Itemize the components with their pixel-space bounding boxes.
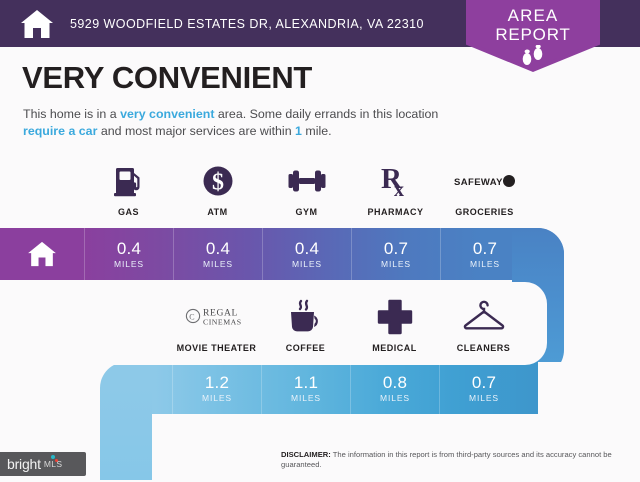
home-icon — [18, 5, 56, 43]
disclaimer-label: DISCLAIMER: — [281, 450, 331, 459]
distance-value: 0.4 — [295, 240, 319, 258]
amenity-gas[interactable]: GAS — [84, 160, 173, 217]
logo-dot-red — [55, 459, 58, 462]
ribbon-left-connector — [100, 388, 152, 480]
distance-unit: MILES — [202, 393, 232, 403]
distance-values-top: 0.4 MILES 0.4 MILES 0.4 MILES 0.7 MILES … — [84, 228, 529, 280]
gas-pump-icon — [111, 160, 147, 202]
distance-unit: MILES — [469, 393, 499, 403]
amenities-row-bottom: C REGAL CINEMAS MOVIE THEATER COFFEE MED… — [172, 296, 528, 353]
distance-cell: 0.7 MILES — [440, 228, 529, 280]
distance-cell: 0.4 MILES — [84, 228, 173, 280]
distance-value: 1.2 — [205, 374, 229, 392]
svg-text:$: $ — [212, 170, 224, 196]
svg-text:C: C — [189, 313, 194, 322]
amenity-movie-theater[interactable]: C REGAL CINEMAS MOVIE THEATER — [172, 296, 261, 353]
desc-highlight-3: 1 — [295, 124, 302, 138]
disclaimer: DISCLAIMER: The information in this repo… — [281, 450, 626, 470]
clothes-hanger-icon — [462, 296, 506, 338]
footprints-icon — [516, 45, 550, 65]
amenity-label: GAS — [118, 207, 139, 217]
distance-value: 0.7 — [384, 240, 408, 258]
distance-value: 0.4 — [117, 240, 141, 258]
distance-cell: 0.7 MILES — [439, 362, 528, 414]
desc-part-1: This home is in a — [23, 107, 120, 121]
amenity-groceries[interactable]: SAFEWAY GROCERIES — [440, 160, 529, 217]
amenity-label: MEDICAL — [372, 343, 417, 353]
rx-icon: R x — [378, 160, 414, 202]
distance-unit: MILES — [380, 393, 410, 403]
desc-highlight-2: require a car — [23, 124, 97, 138]
desc-part-3: and most major services are within — [97, 124, 295, 138]
svg-text:SAFEWAY: SAFEWAY — [454, 177, 503, 188]
distance-value: 0.7 — [472, 374, 496, 392]
desc-highlight-1: very convenient — [120, 107, 214, 121]
distance-cell: 0.8 MILES — [350, 362, 439, 414]
amenity-label: MOVIE THEATER — [177, 343, 257, 353]
amenity-medical[interactable]: MEDICAL — [350, 296, 439, 353]
distance-value: 0.4 — [206, 240, 230, 258]
amenity-pharmacy[interactable]: R x PHARMACY — [351, 160, 440, 217]
dollar-circle-icon: $ — [200, 160, 236, 202]
amenity-cleaners[interactable]: CLEANERS — [439, 296, 528, 353]
home-icon-cell — [0, 228, 84, 280]
area-report-badge: AREA REPORT — [470, 0, 596, 68]
distance-cell: 0.7 MILES — [351, 228, 440, 280]
amenity-gym[interactable]: GYM — [262, 160, 351, 217]
middle-white-card-left — [0, 282, 120, 365]
safeway-logo: SAFEWAY — [454, 160, 516, 202]
distance-unit: MILES — [291, 393, 321, 403]
desc-part-4: mile. — [302, 124, 332, 138]
svg-text:CINEMAS: CINEMAS — [203, 318, 242, 327]
distance-unit: MILES — [470, 259, 500, 269]
amenity-coffee[interactable]: COFFEE — [261, 296, 350, 353]
coffee-cup-icon — [286, 296, 326, 338]
distance-cell: 1.2 MILES — [172, 362, 261, 414]
amenity-label: CLEANERS — [457, 343, 511, 353]
distance-cell: 0.4 MILES — [262, 228, 351, 280]
amenities-row-top: GAS $ ATM GYM R x — [84, 160, 529, 217]
distance-value: 0.7 — [473, 240, 497, 258]
distance-unit: MILES — [381, 259, 411, 269]
description-text: This home is in a very convenient area. … — [23, 106, 453, 140]
disclaimer-text: The information in this report is from t… — [281, 450, 612, 469]
bright-mls-wordmark: bright — [7, 456, 41, 472]
bright-mls-logo[interactable]: bright MLS — [0, 452, 86, 476]
amenity-label: PHARMACY — [367, 207, 423, 217]
dumbbell-icon — [287, 160, 327, 202]
regal-cinemas-logo: C REGAL CINEMAS — [184, 296, 250, 338]
distance-cell: 0.4 MILES — [173, 228, 262, 280]
badge-line-2: REPORT — [495, 25, 570, 44]
amenity-label: ATM — [207, 207, 227, 217]
distance-value: 0.8 — [383, 374, 407, 392]
medical-cross-icon — [377, 296, 413, 338]
page-title: VERY CONVENIENT — [22, 60, 312, 96]
distance-cell: 1.1 MILES — [261, 362, 350, 414]
amenity-label: GROCERIES — [455, 207, 514, 217]
svg-text:x: x — [394, 179, 404, 200]
distance-values-bottom: 1.2 MILES 1.1 MILES 0.8 MILES 0.7 MILES — [172, 362, 528, 414]
amenity-atm[interactable]: $ ATM — [173, 160, 262, 217]
header-address-group: 5929 WOODFIELD ESTATES DR, ALEXANDRIA, V… — [0, 0, 470, 47]
bright-mls-sub: MLS — [44, 459, 63, 469]
amenity-label: COFFEE — [286, 343, 326, 353]
distance-unit: MILES — [114, 259, 144, 269]
desc-part-2: area. Some daily errands in this locatio… — [214, 107, 438, 121]
badge-line-1: AREA — [508, 7, 559, 25]
distance-value: 1.1 — [294, 374, 318, 392]
logo-dot-teal — [51, 455, 55, 459]
property-address: 5929 WOODFIELD ESTATES DR, ALEXANDRIA, V… — [70, 17, 424, 31]
distance-unit: MILES — [292, 259, 322, 269]
amenity-label: GYM — [295, 207, 317, 217]
distance-unit: MILES — [203, 259, 233, 269]
